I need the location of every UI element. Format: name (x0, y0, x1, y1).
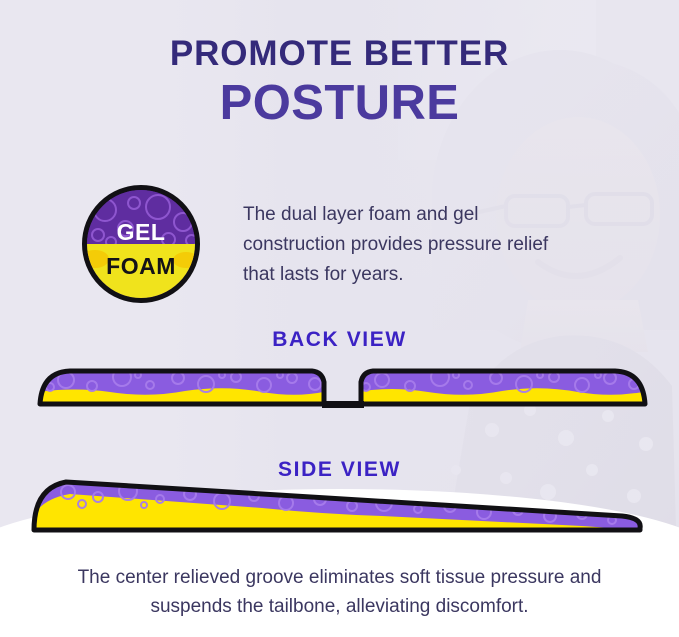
gel-foam-badge: GEL FOAM (82, 185, 200, 303)
bubble-icon (127, 196, 141, 210)
side-view-art (22, 472, 657, 544)
side-view-diagram (22, 472, 657, 544)
bubble-icon (145, 194, 171, 220)
back-view-label: BACK VIEW (0, 328, 679, 352)
back-view-art (30, 362, 655, 424)
infographic-root: PROMOTE BETTER POSTURE GEL FOAM The dual… (0, 0, 679, 637)
bottom-caption: The center relieved groove eliminates so… (40, 563, 639, 621)
badge-foam-label: FOAM (87, 253, 195, 280)
title-line-2: POSTURE (0, 76, 679, 130)
back-view-diagram (30, 362, 655, 424)
title-line-1: PROMOTE BETTER (0, 34, 679, 74)
page-title: PROMOTE BETTER POSTURE (0, 34, 679, 130)
badge-gel-label: GEL (87, 219, 195, 246)
center-groove (322, 401, 364, 408)
intro-paragraph: The dual layer foam and gel construction… (243, 200, 561, 290)
